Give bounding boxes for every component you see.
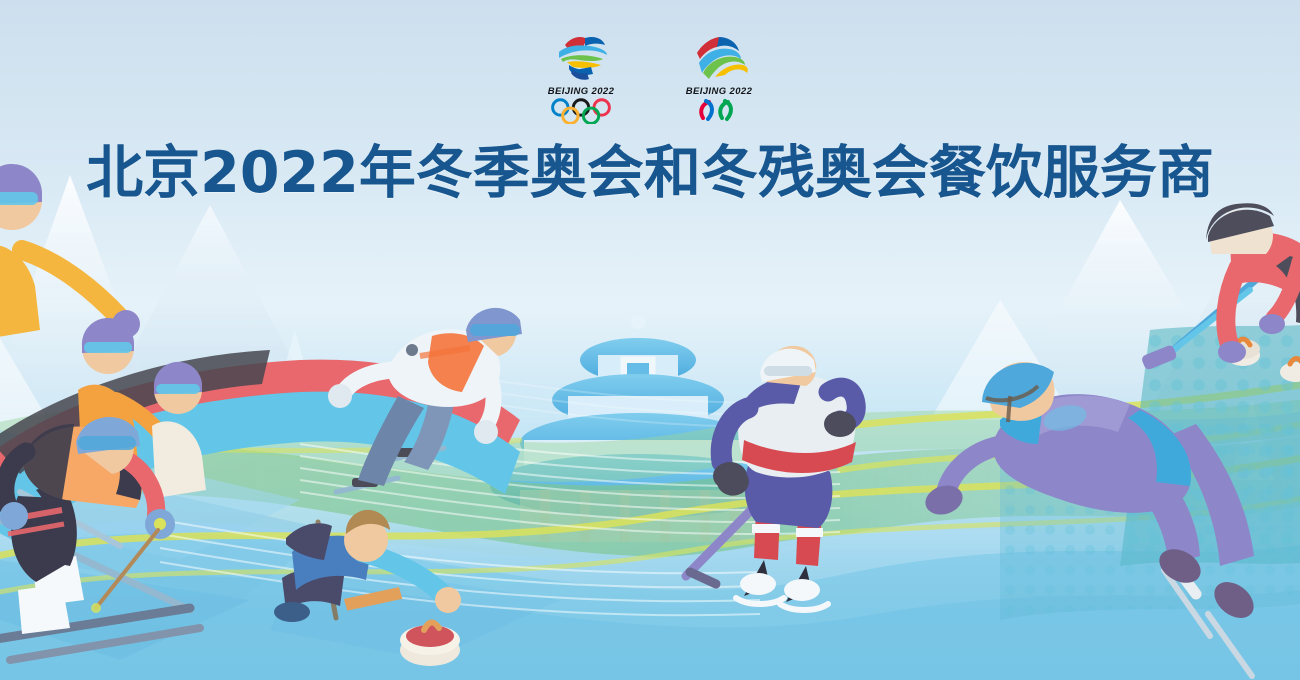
- olympic-rings-icon: [548, 99, 614, 123]
- emblem-row: BEIJING 2022: [0, 28, 1300, 123]
- athlete-speed-skater: [922, 362, 1261, 676]
- olympic-emblem-icon: [545, 28, 617, 84]
- banner-title: 北京2022年冬季奥会和冬残奥会餐饮服务商: [0, 143, 1300, 205]
- athlete-ice-hockey-player: [686, 346, 856, 610]
- athlete-curler-sweeper: [1141, 203, 1300, 371]
- olympic-wordmark: BEIJING 2022: [548, 86, 615, 97]
- logo-paralympic: BEIJING 2022: [671, 28, 767, 123]
- olympic-banner: BEIJING 2022: [0, 0, 1300, 680]
- paralympic-wordmark: BEIJING 2022: [686, 86, 753, 97]
- paralympic-emblem-icon: [683, 28, 755, 84]
- athlete-curler-delivery: [274, 510, 461, 666]
- paralympic-agitos-icon: [691, 99, 747, 123]
- logo-olympic: BEIJING 2022: [533, 28, 629, 123]
- curling-stone-delivered: [400, 622, 460, 666]
